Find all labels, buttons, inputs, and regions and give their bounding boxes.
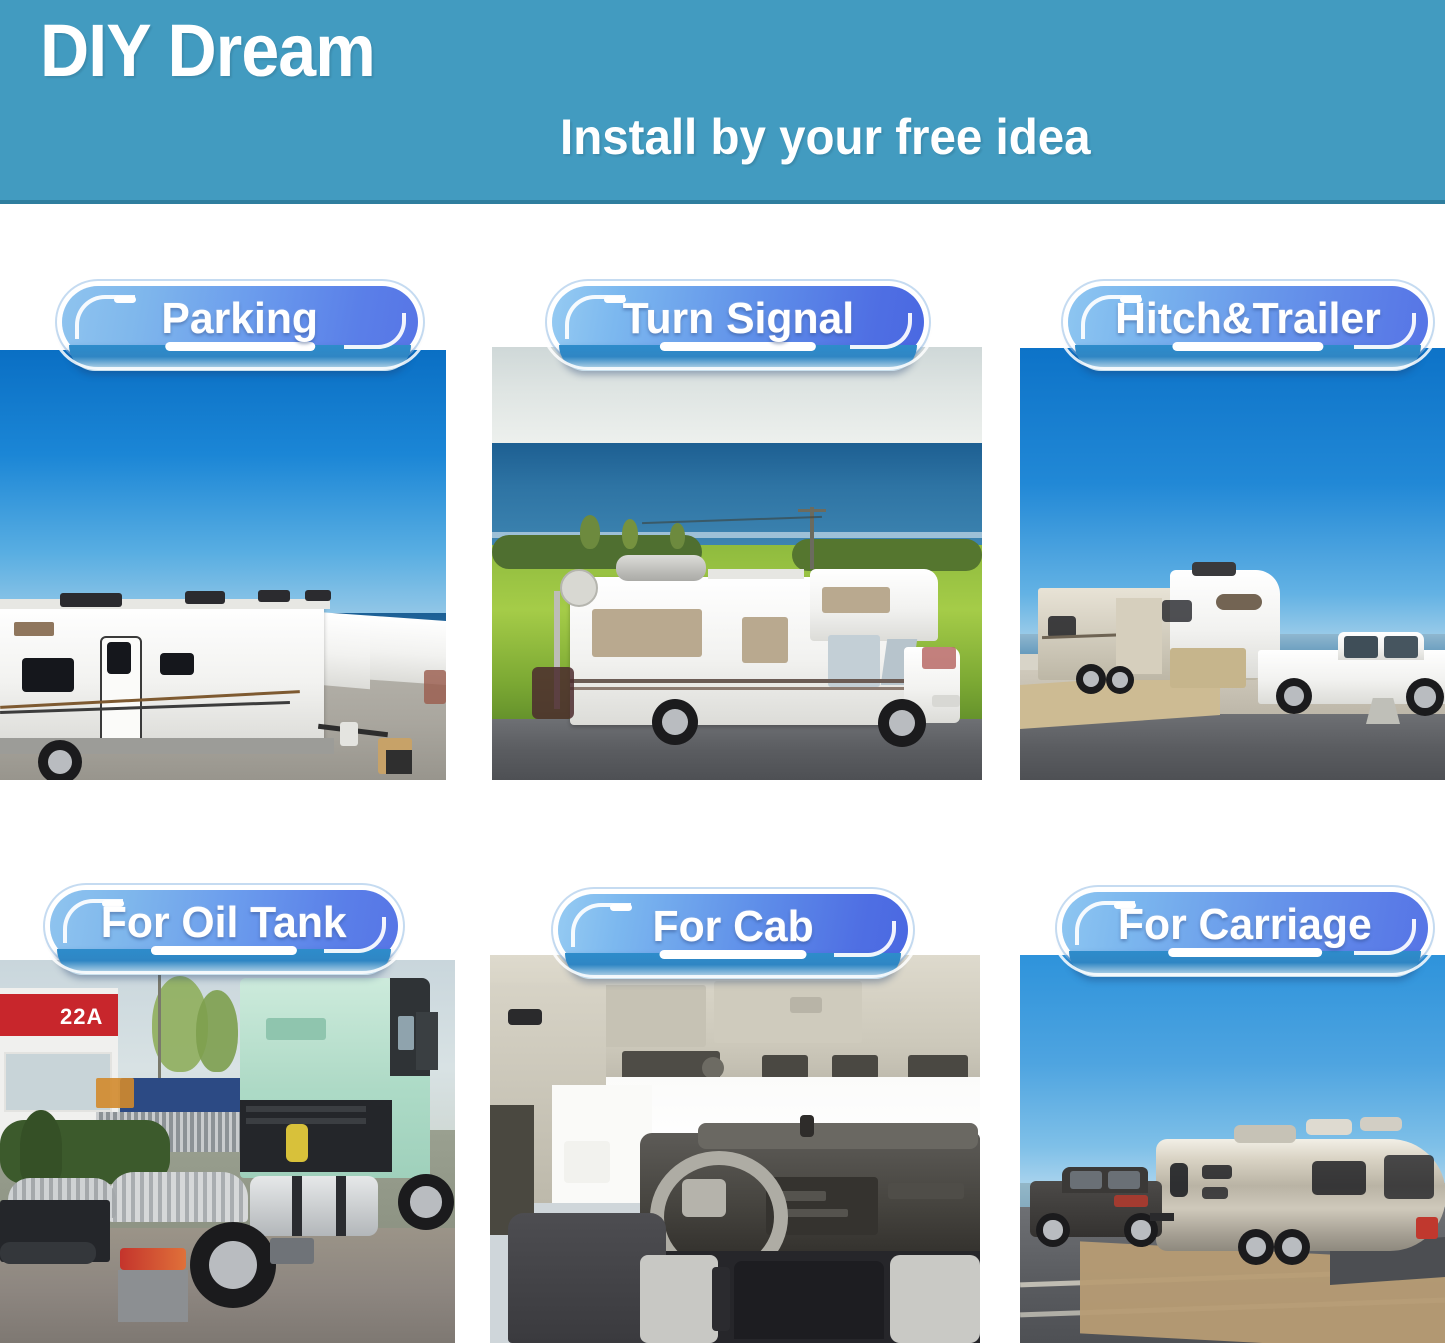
- photo-turn-signal: [492, 347, 982, 780]
- pill-highlight-arc-icon: [75, 295, 135, 339]
- pill-highlight-dash-icon: [114, 296, 136, 303]
- pill-highlight-hook-icon: [834, 921, 896, 957]
- page-header: DIY Dream Install by your free idea: [0, 0, 1445, 204]
- photo-parking: [0, 350, 446, 780]
- pill-highlight-hook-icon: [344, 313, 406, 349]
- badge-for-cab[interactable]: For Cab: [558, 894, 908, 966]
- pill-highlight-arc-icon: [571, 903, 631, 947]
- badge-label: For Oil Tank: [76, 898, 372, 954]
- badge-hitch-trailer[interactable]: Hitch&Trailer: [1068, 286, 1428, 358]
- photo-for-cab: [490, 955, 980, 1343]
- page-title: DIY Dream: [40, 8, 375, 94]
- sign-label-22a: 22A: [60, 1004, 103, 1030]
- badge-label: For Carriage: [1093, 900, 1397, 956]
- badge-label: For Cab: [627, 902, 839, 958]
- badge-label: Parking: [136, 294, 343, 350]
- page-subtitle: Install by your free idea: [560, 108, 1091, 166]
- photo-for-oil-tank: 22A: [0, 960, 455, 1343]
- photo-hitch-trailer: [1020, 348, 1445, 780]
- photo-for-carriage: [1020, 955, 1445, 1343]
- badge-for-oil-tank[interactable]: For Oil Tank: [50, 890, 398, 962]
- badge-parking[interactable]: Parking: [62, 286, 418, 358]
- badge-turn-signal[interactable]: Turn Signal: [552, 286, 924, 358]
- badge-for-carriage[interactable]: For Carriage: [1062, 892, 1428, 964]
- badge-label: Turn Signal: [597, 294, 879, 350]
- badge-label: Hitch&Trailer: [1090, 294, 1406, 350]
